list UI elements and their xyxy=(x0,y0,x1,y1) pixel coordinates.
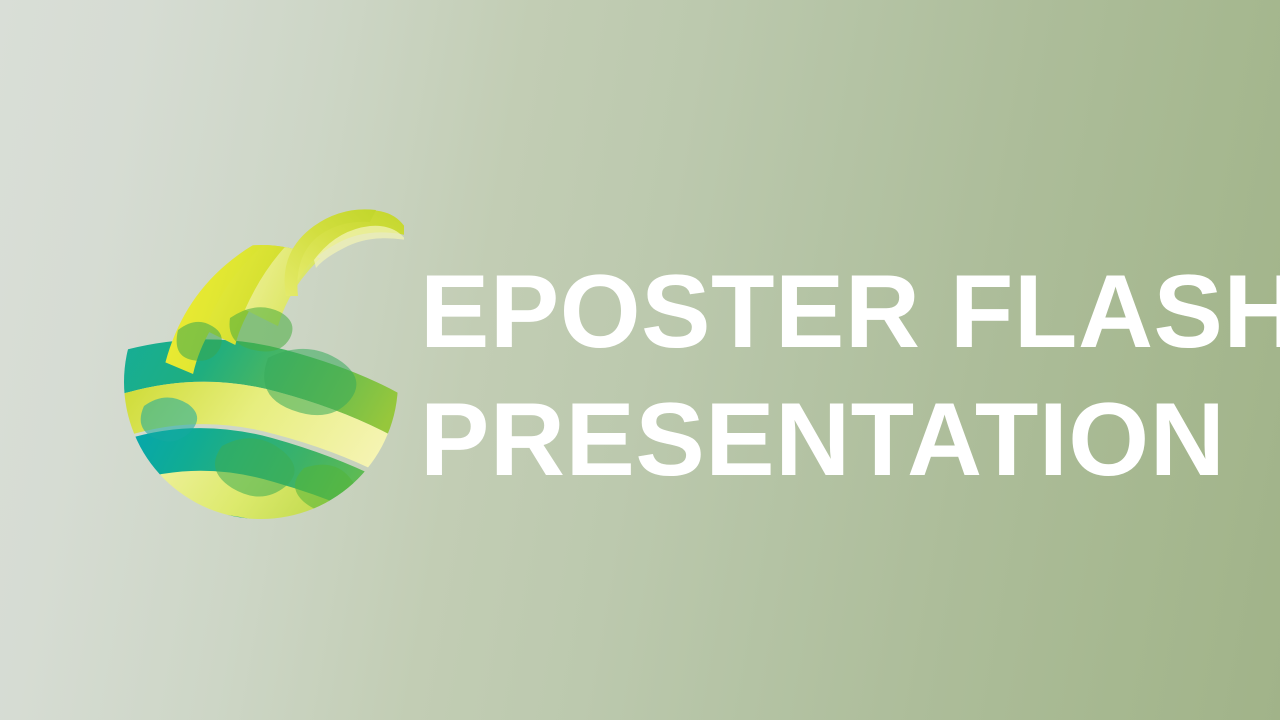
leaf-icon xyxy=(285,209,404,296)
title-slide: EPOSTER FLASH PRESENTATION xyxy=(0,0,1280,720)
globe-ribbon-leaf-logo xyxy=(118,200,404,530)
globe-ribbon-bands xyxy=(118,200,404,530)
title-line-1: EPOSTER FLASH xyxy=(420,248,1210,376)
title-line-2: PRESENTATION xyxy=(420,376,1210,504)
page-title: EPOSTER FLASH PRESENTATION xyxy=(420,248,1210,504)
